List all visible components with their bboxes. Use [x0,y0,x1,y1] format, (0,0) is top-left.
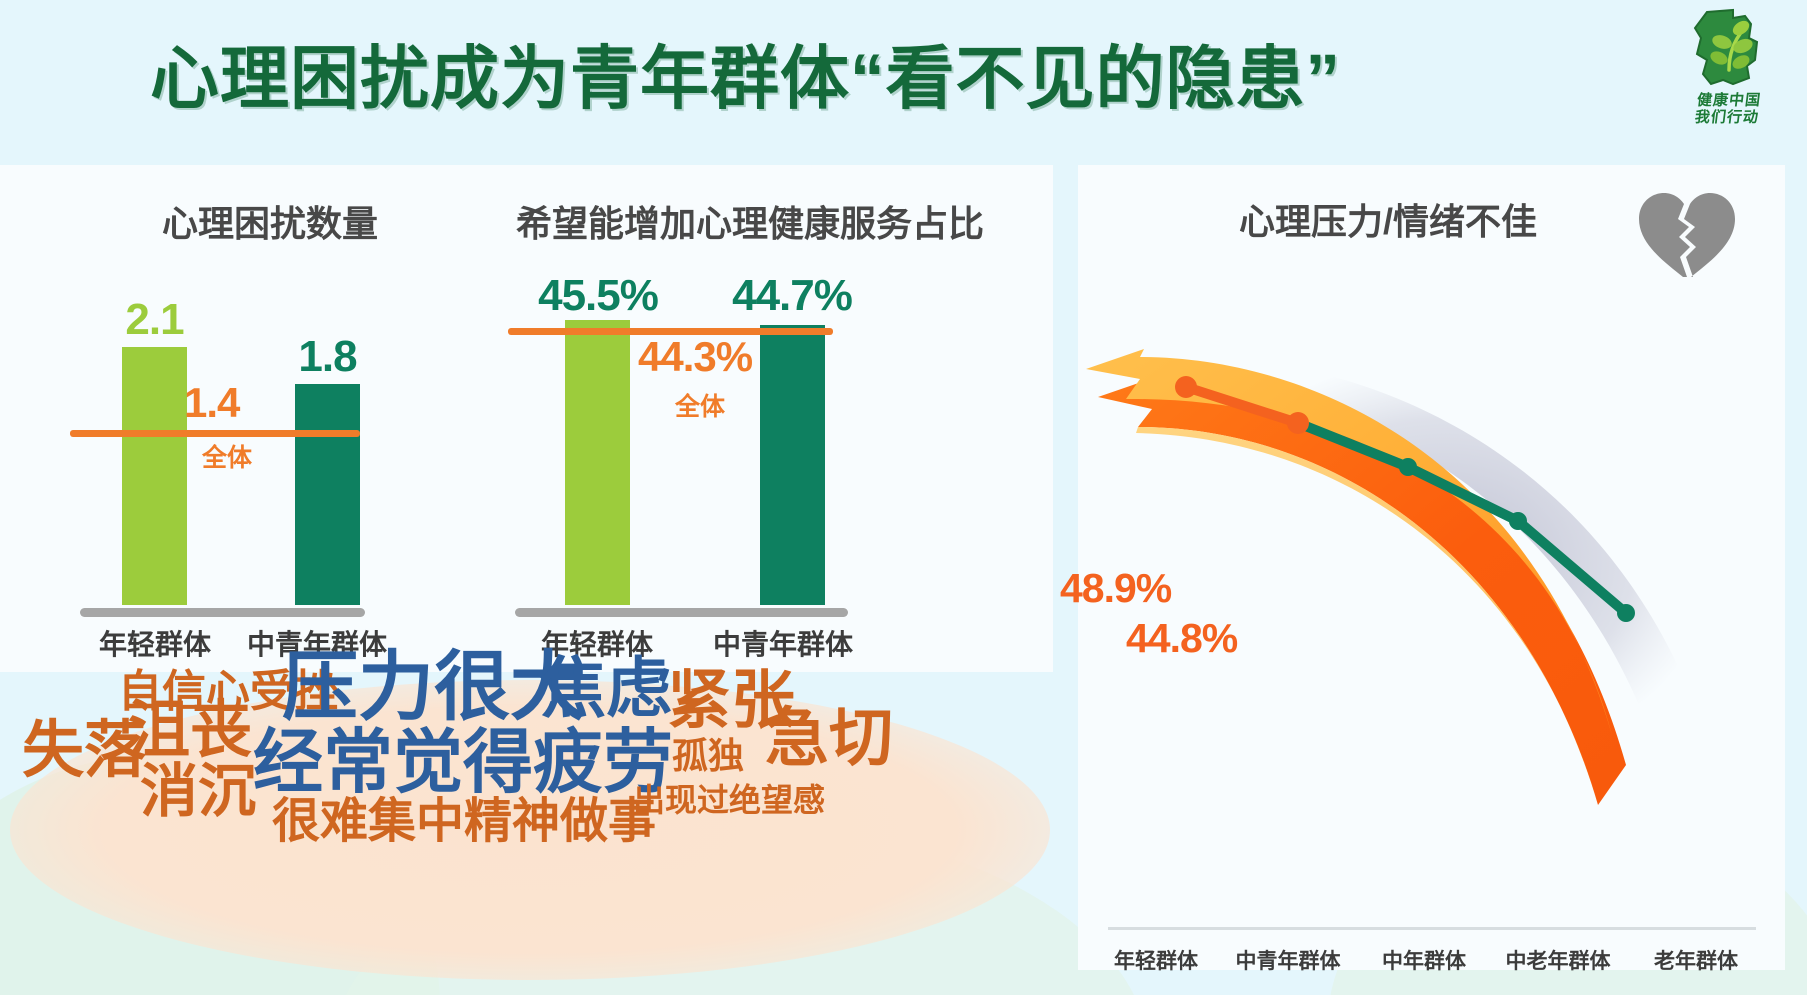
page-title: 心理困扰成为青年群体“看不见的隐患” [150,22,1550,122]
chart1-category-young: 年轻群体 [85,623,225,663]
wordcloud-word-10: 出现过绝望感 [633,784,825,816]
chart3-category-1: 中青年群体 [1208,945,1368,975]
wordcloud-word-6: 消沉 [140,763,256,821]
chart1-value-young: 2.1 [102,295,207,345]
wordcloud-word-7: 经常觉得疲劳 [253,727,673,797]
chart1-title: 心理困扰数量 [60,195,480,247]
page-header: 心理困扰成为青年群体“看不见的隐患” 健康中国 我们行动 [0,0,1807,165]
chart2-value-middle-young: 44.7% [712,271,872,321]
chart1-value-middle-young: 1.8 [275,332,380,382]
chart3-label-middle-young: 44.8% [1126,615,1237,662]
chart1-reference-value: 1.4 [184,379,239,427]
psychological-distress-wordcloud: 自信心受挫 压力很大 焦虑 紧张 失落 沮丧 消沉 经常觉得疲劳 孤独 急切 出… [0,690,1060,995]
chart1-bar-middle-young[interactable] [295,384,360,605]
left-charts-panel: 心理困扰数量 2.1 1.8 1.4 全体 年轻群体 中青年群体 希望能增加心理… [0,165,1053,672]
chart1-reference-line [70,430,360,437]
chart3-category-2: 中年群体 [1354,945,1494,975]
logo-text: 健康中国 我们行动 [1671,92,1785,126]
wordcloud-word-9: 急切 [765,706,893,770]
chart1-plot-area: 2.1 1.8 1.4 全体 [60,275,480,605]
chart2-reference-value: 44.3% [638,333,752,381]
chart2-plot-area: 45.5% 44.7% 44.3% 全体 [490,275,1010,605]
chart2-bar-young[interactable] [565,320,630,605]
chart3-axis-baseline [1108,927,1756,930]
wordcloud-word-5: 沮丧 [128,700,252,762]
chart3-category-3: 中老年群体 [1478,945,1638,975]
chart2-title: 希望能增加心理健康服务占比 [490,195,1010,247]
chart3-category-0: 年轻群体 [1086,945,1226,975]
chart-mental-distress-count: 心理困扰数量 2.1 1.8 1.4 全体 年轻群体 中青年群体 [60,165,480,672]
chart2-category-middle-young: 中青年群体 [698,623,868,663]
chart2-bar-middle-young[interactable] [760,325,825,605]
wordcloud-word-11: 很难集中精神做事 [272,798,656,846]
chart3-label-young: 48.9% [1060,565,1171,612]
wordcloud-word-2: 焦虑 [540,655,672,721]
chart3-plot-area [1078,165,1785,970]
right-line-chart-panel: 心理压力/情绪不佳 [1078,165,1785,970]
wordcloud-word-8: 孤独 [672,738,744,774]
chart2-axis-baseline [515,608,848,617]
logo-text-line2: 我们行动 [1671,109,1783,126]
chart3-category-4: 老年群体 [1626,945,1766,975]
logo-text-line1: 健康中国 [1673,92,1785,109]
chart2-value-young: 45.5% [518,271,678,321]
chart1-reference-note: 全体 [202,438,252,474]
chart1-axis-baseline [80,608,365,617]
logo-leaf-map-icon [1689,8,1767,92]
chart-wants-more-mental-health-services: 希望能增加心理健康服务占比 45.5% 44.7% 44.3% 全体 年轻群体 … [490,165,1010,672]
chart2-reference-note: 全体 [675,387,725,423]
chart1-bar-young[interactable] [122,347,187,605]
healthy-china-logo: 健康中国 我们行动 [1673,8,1783,138]
